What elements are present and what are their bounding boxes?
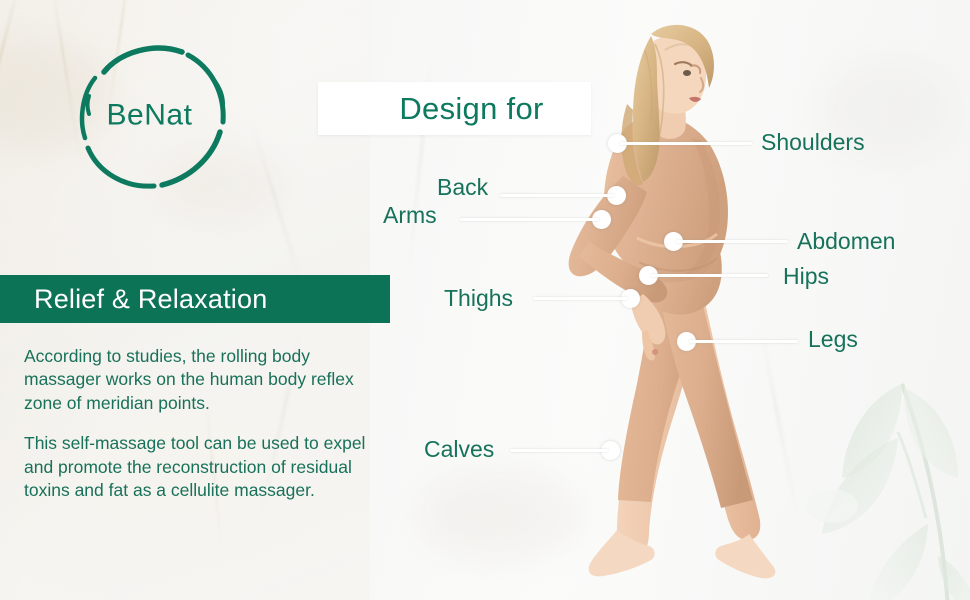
callout-label-shoulders: Shoulders [761, 131, 865, 154]
callout-line-legs [689, 340, 798, 343]
callout-label-abdomen: Abdomen [797, 230, 895, 253]
callout-layer: Shoulders Back Arms Abdomen Hips Thighs … [0, 0, 970, 600]
callout-label-hips: Hips [783, 265, 829, 288]
callout-line-calves [510, 449, 608, 452]
callout-label-calves: Calves [424, 438, 494, 461]
callout-line-thighs [533, 297, 628, 300]
callout-label-thighs: Thighs [444, 287, 513, 310]
callout-line-shoulders [620, 142, 752, 145]
product-infographic: BeNat [0, 0, 970, 600]
callout-line-hips [651, 274, 768, 277]
callout-line-arms [460, 218, 599, 221]
callout-label-arms: Arms [383, 204, 437, 227]
callout-label-back: Back [437, 176, 488, 199]
callout-label-legs: Legs [808, 328, 858, 351]
callout-line-abdomen [676, 240, 788, 243]
callout-line-back [500, 194, 614, 197]
